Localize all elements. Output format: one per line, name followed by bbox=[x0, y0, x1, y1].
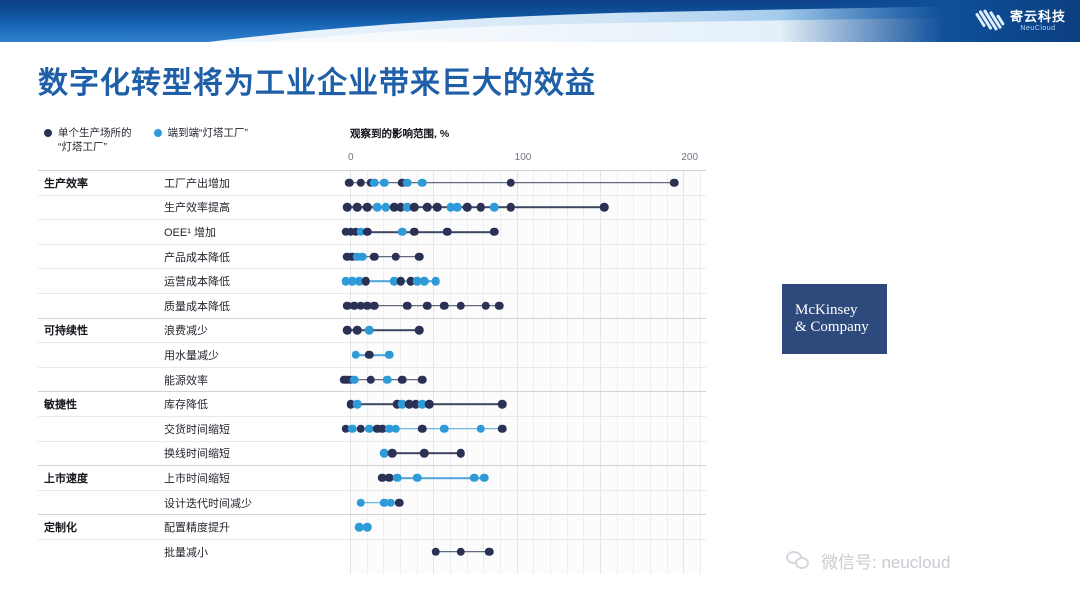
row-label: 工厂产出增加 bbox=[150, 175, 344, 191]
data-point-single_site bbox=[506, 203, 515, 212]
row-label: 换线时间缩短 bbox=[150, 445, 344, 461]
data-point-single_site bbox=[410, 203, 419, 212]
chart-row: 运营成本降低 bbox=[38, 268, 706, 293]
row-plot bbox=[344, 220, 706, 244]
row-label: 质量成本降低 bbox=[150, 298, 344, 314]
data-point-single_site bbox=[670, 179, 679, 188]
x-tick-200: 200 bbox=[681, 152, 698, 163]
chart-row: 批量减小 bbox=[38, 539, 706, 564]
data-point-end_to_end bbox=[391, 424, 400, 433]
chart-row: 交货时间缩短 bbox=[38, 416, 706, 441]
axis-tick-labels: 0100200 bbox=[350, 152, 706, 166]
data-point-end_to_end bbox=[476, 424, 485, 433]
data-point-single_site bbox=[423, 302, 432, 311]
row-label: 上市时间缩短 bbox=[150, 470, 344, 486]
data-point-end_to_end bbox=[480, 474, 489, 483]
chart-row: 上市速度上市时间缩短 bbox=[38, 465, 706, 490]
axis-title: 观察到的影响范围, % bbox=[350, 126, 449, 141]
data-point-end_to_end bbox=[393, 474, 402, 483]
data-point-end_to_end bbox=[348, 424, 357, 433]
data-point-end_to_end bbox=[470, 474, 479, 483]
data-point-single_site bbox=[415, 326, 424, 335]
data-point-single_site bbox=[495, 302, 504, 311]
data-point-end_to_end bbox=[381, 203, 390, 212]
chart-row: 用水量减少 bbox=[38, 342, 706, 367]
data-point-single_site bbox=[456, 302, 465, 311]
chart-row: 设计迭代时间减少 bbox=[38, 490, 706, 515]
data-point-single_site bbox=[365, 351, 374, 360]
data-point-end_to_end bbox=[351, 351, 360, 360]
data-point-single_site bbox=[403, 302, 412, 311]
row-label: 生产效率提高 bbox=[150, 199, 344, 215]
row-label: OEE¹ 增加 bbox=[150, 224, 344, 240]
data-point-end_to_end bbox=[413, 474, 422, 483]
data-point-single_site bbox=[366, 375, 375, 384]
data-point-end_to_end bbox=[350, 375, 359, 384]
chart-legend: 单个生产场所的 “灯塔工厂”端到端“灯塔工厂” bbox=[44, 126, 374, 154]
data-point-single_site bbox=[418, 375, 427, 384]
data-point-single_site bbox=[410, 228, 419, 237]
row-group-label: 定制化 bbox=[38, 519, 150, 535]
chart-row: 能源效率 bbox=[38, 367, 706, 392]
chart-rows: 生产效率工厂产出增加生产效率提高OEE¹ 增加产品成本降低运营成本降低质量成本降… bbox=[38, 170, 706, 564]
chart-row: 质量成本降低 bbox=[38, 293, 706, 318]
data-point-end_to_end bbox=[365, 326, 374, 335]
data-point-single_site bbox=[361, 277, 370, 286]
data-point-end_to_end bbox=[383, 375, 392, 384]
data-point-single_site bbox=[476, 203, 485, 212]
chart-row: 敏捷性库存降低 bbox=[38, 391, 706, 416]
row-plot bbox=[344, 491, 706, 515]
data-point-single_site bbox=[420, 449, 429, 458]
row-label: 产品成本降低 bbox=[150, 249, 344, 265]
row-label: 交货时间缩短 bbox=[150, 421, 344, 437]
brand-name-en: NeuCloud bbox=[1010, 25, 1066, 32]
data-point-single_site bbox=[425, 400, 434, 409]
data-point-end_to_end bbox=[420, 277, 429, 286]
data-point-single_site bbox=[485, 547, 494, 556]
x-tick-100: 100 bbox=[515, 152, 532, 163]
chart-row: 生产效率工厂产出增加 bbox=[38, 170, 706, 195]
data-point-single_site bbox=[363, 203, 372, 212]
data-point-single_site bbox=[415, 252, 424, 261]
row-plot bbox=[344, 392, 706, 416]
row-label: 批量减小 bbox=[150, 544, 344, 560]
data-point-single_site bbox=[353, 326, 362, 335]
data-point-single_site bbox=[370, 252, 379, 261]
data-point-single_site bbox=[395, 498, 404, 507]
data-point-end_to_end bbox=[440, 424, 449, 433]
data-point-single_site bbox=[498, 424, 507, 433]
row-label: 用水量减少 bbox=[150, 347, 344, 363]
data-point-single_site bbox=[345, 179, 354, 188]
row-label: 浪费减少 bbox=[150, 322, 344, 338]
data-point-end_to_end bbox=[403, 179, 412, 188]
data-point-single_site bbox=[423, 203, 432, 212]
row-plot bbox=[344, 417, 706, 441]
data-point-end_to_end bbox=[490, 203, 499, 212]
row-group-label: 上市速度 bbox=[38, 470, 150, 486]
row-plot bbox=[344, 245, 706, 269]
data-point-single_site bbox=[463, 203, 472, 212]
data-point-single_site bbox=[498, 400, 507, 409]
data-point-single_site bbox=[385, 474, 394, 483]
data-point-end_to_end bbox=[431, 277, 440, 286]
chart-row: 产品成本降低 bbox=[38, 244, 706, 269]
chart-row: OEE¹ 增加 bbox=[38, 219, 706, 244]
legend-entry-single_site: 单个生产场所的 “灯塔工厂” bbox=[44, 126, 132, 154]
row-plot bbox=[344, 319, 706, 343]
data-point-single_site bbox=[343, 326, 352, 335]
mckinsey-line-2: & Company bbox=[795, 319, 887, 336]
row-group-label: 可持续性 bbox=[38, 322, 150, 338]
data-point-single_site bbox=[396, 277, 405, 286]
legend-label: 端到端“灯塔工厂” bbox=[168, 126, 249, 154]
chart-row: 生产效率提高 bbox=[38, 195, 706, 220]
legend-entry-end_to_end: 端到端“灯塔工厂” bbox=[154, 126, 249, 154]
row-plot bbox=[344, 466, 706, 490]
data-point-single_site bbox=[440, 302, 449, 311]
data-point-end_to_end bbox=[398, 228, 407, 237]
x-tick-0: 0 bbox=[348, 152, 354, 163]
wechat-id-text: 微信号: neucloud bbox=[821, 548, 950, 573]
data-point-single_site bbox=[356, 179, 365, 188]
chart-row: 定制化配置精度提升 bbox=[38, 514, 706, 539]
row-group-label: 生产效率 bbox=[38, 175, 150, 191]
data-point-single_site bbox=[600, 203, 609, 212]
data-point-single_site bbox=[431, 547, 440, 556]
row-label: 配置精度提升 bbox=[150, 519, 344, 535]
impact-range-chart: 单个生产场所的 “灯塔工厂”端到端“灯塔工厂” 观察到的影响范围, % 0100… bbox=[38, 126, 706, 576]
mckinsey-attribution-logo: McKinsey & Company bbox=[782, 284, 887, 354]
row-label: 能源效率 bbox=[150, 372, 344, 388]
row-plot bbox=[344, 442, 706, 466]
row-label: 库存降低 bbox=[150, 396, 344, 412]
data-point-end_to_end bbox=[380, 179, 389, 188]
page-title: 数字化转型将为工业企业带来巨大的效益 bbox=[38, 58, 596, 102]
wechat-icon bbox=[786, 551, 812, 571]
data-point-single_site bbox=[481, 302, 490, 311]
row-label: 设计迭代时间减少 bbox=[150, 495, 344, 511]
data-point-end_to_end bbox=[373, 203, 382, 212]
data-point-end_to_end bbox=[363, 523, 372, 532]
row-plot bbox=[344, 294, 706, 318]
data-point-end_to_end bbox=[418, 179, 427, 188]
data-point-end_to_end bbox=[453, 203, 462, 212]
data-point-end_to_end bbox=[386, 498, 395, 507]
row-plot bbox=[344, 368, 706, 392]
data-point-single_site bbox=[433, 203, 442, 212]
header-banner bbox=[0, 0, 1080, 42]
data-point-end_to_end bbox=[380, 449, 389, 458]
data-point-end_to_end bbox=[356, 498, 365, 507]
data-point-single_site bbox=[418, 424, 427, 433]
row-plot bbox=[344, 343, 706, 367]
plot-area: 生产效率工厂产出增加生产效率提高OEE¹ 增加产品成本降低运营成本降低质量成本降… bbox=[38, 170, 706, 574]
data-point-end_to_end bbox=[353, 400, 362, 409]
data-point-end_to_end bbox=[358, 252, 367, 261]
data-point-end_to_end bbox=[355, 523, 364, 532]
data-point-single_site bbox=[456, 547, 465, 556]
data-point-single_site bbox=[456, 449, 465, 458]
data-point-single_site bbox=[443, 228, 452, 237]
data-point-end_to_end bbox=[370, 179, 379, 188]
neucloud-mark-icon bbox=[977, 8, 1003, 34]
row-group-label: 敏捷性 bbox=[38, 396, 150, 412]
data-point-single_site bbox=[388, 449, 397, 458]
data-point-single_site bbox=[353, 203, 362, 212]
data-point-single_site bbox=[343, 203, 352, 212]
row-label: 运营成本降低 bbox=[150, 273, 344, 289]
chart-row: 可持续性浪费减少 bbox=[38, 318, 706, 343]
mckinsey-line-1: McKinsey bbox=[795, 302, 887, 319]
data-point-single_site bbox=[370, 302, 379, 311]
data-point-single_site bbox=[490, 228, 499, 237]
legend-dot-icon bbox=[44, 129, 52, 137]
data-point-single_site bbox=[506, 179, 515, 188]
row-plot bbox=[344, 269, 706, 293]
data-point-end_to_end bbox=[365, 424, 374, 433]
data-point-single_site bbox=[391, 252, 400, 261]
data-point-single_site bbox=[398, 375, 407, 384]
data-point-single_site bbox=[356, 424, 365, 433]
brand-name-cn: 寄云科技 bbox=[1010, 10, 1066, 23]
row-plot bbox=[344, 171, 706, 195]
row-plot bbox=[344, 515, 706, 539]
legend-dot-icon bbox=[154, 129, 162, 137]
data-point-single_site bbox=[363, 228, 372, 237]
row-plot bbox=[344, 540, 706, 564]
brand-text: 寄云科技 NeuCloud bbox=[1010, 10, 1066, 32]
chart-row: 换线时间缩短 bbox=[38, 441, 706, 466]
brand-logo: 寄云科技 NeuCloud bbox=[977, 4, 1066, 38]
legend-label: 单个生产场所的 “灯塔工厂” bbox=[58, 126, 132, 154]
wechat-watermark: 微信号: neucloud bbox=[786, 548, 950, 573]
row-plot bbox=[344, 196, 706, 220]
data-point-end_to_end bbox=[385, 351, 394, 360]
